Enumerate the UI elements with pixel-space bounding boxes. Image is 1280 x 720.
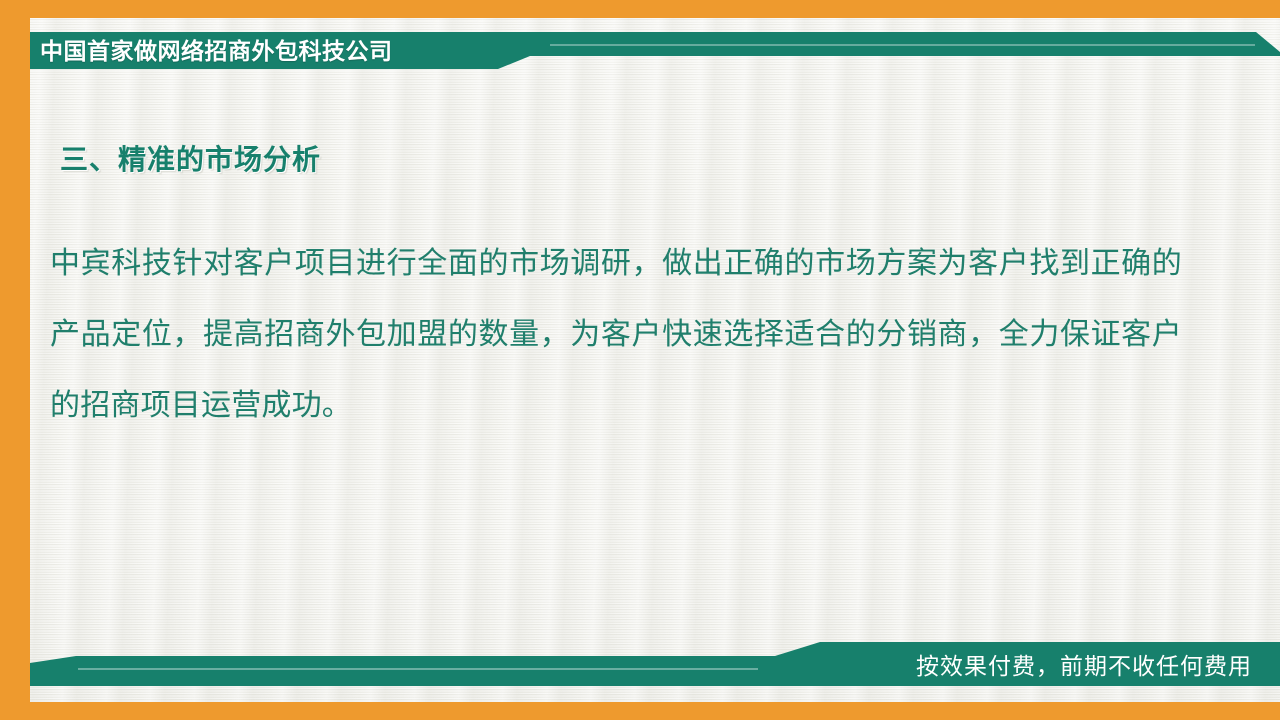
section-heading: 三、精准的市场分析 <box>60 138 321 178</box>
body-paragraph: 中宾科技针对客户项目进行全面的市场调研，做出正确的市场方案为客户找到正确的产品定… <box>50 228 1182 441</box>
footer-accent-line <box>78 668 758 670</box>
header-accent-line <box>550 44 1255 46</box>
header-title: 中国首家做网络招商外包科技公司 <box>40 33 393 69</box>
slide-root: 中国首家做网络招商外包科技公司 三、精准的市场分析 中宾科技针对客户项目进行全面… <box>0 0 1280 720</box>
footer-tagline: 按效果付费，前期不收任何费用 <box>916 648 1252 684</box>
